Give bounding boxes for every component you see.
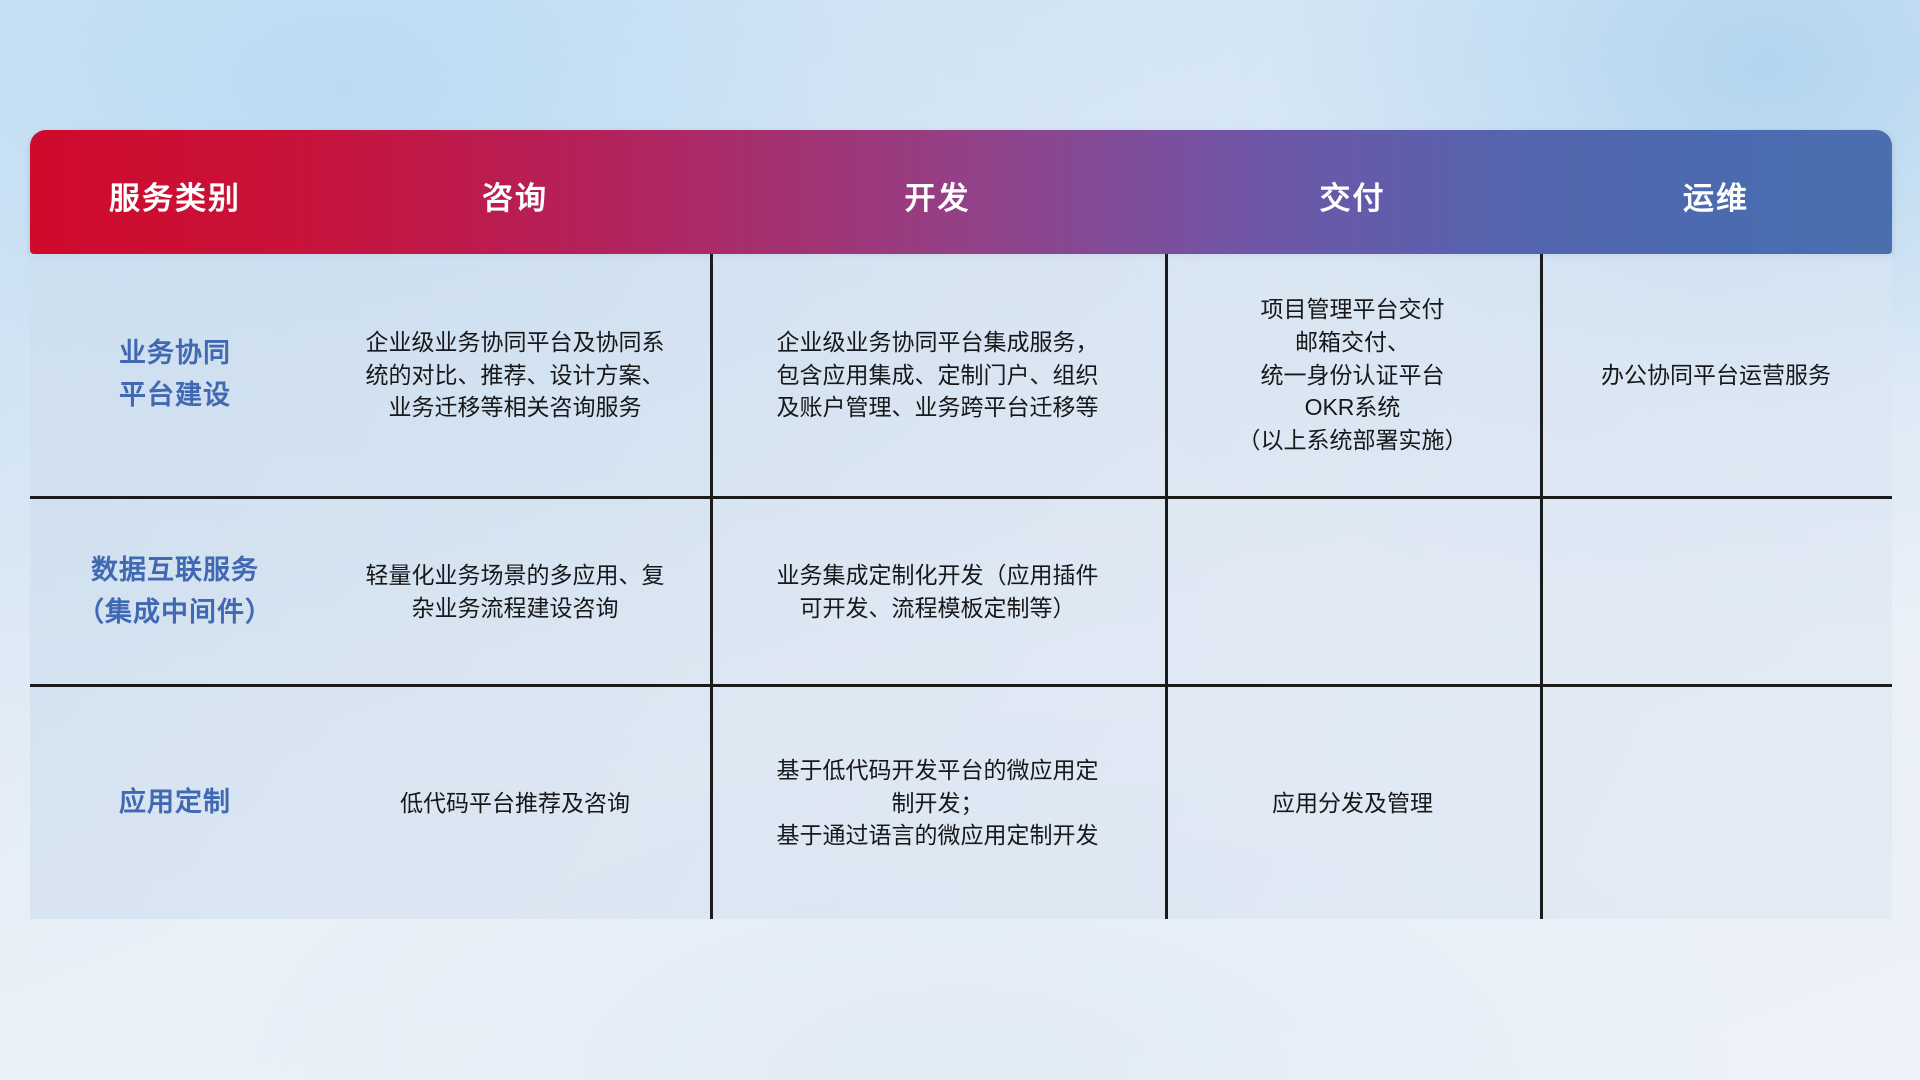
cell-consulting: 企业级业务协同平台及协同系 统的对比、推荐、设计方案、 业务迁移等相关咨询服务 [320, 254, 710, 496]
row-category-label: 应用定制 [30, 687, 320, 919]
column-header-operations: 运维 [1540, 130, 1892, 254]
table-header-row: 服务类别 咨询 开发 交付 运维 [30, 130, 1892, 254]
cell-delivery: 应用分发及管理 [1165, 687, 1540, 919]
row-category-label: 数据互联服务 （集成中间件） [30, 499, 320, 684]
cell-operations [1540, 687, 1892, 919]
column-header-consulting: 咨询 [320, 130, 710, 254]
slide-canvas: 服务类别 咨询 开发 交付 运维 业务协同 平台建设 企业级业务协同平台及协同系… [0, 0, 1920, 1080]
column-header-category: 服务类别 [30, 130, 320, 254]
cell-development: 业务集成定制化开发（应用插件 可开发、流程模板定制等） [710, 499, 1165, 684]
cell-delivery [1165, 499, 1540, 684]
cell-development: 基于低代码开发平台的微应用定 制开发； 基于通过语言的微应用定制开发 [710, 687, 1165, 919]
table-row: 业务协同 平台建设 企业级业务协同平台及协同系 统的对比、推荐、设计方案、 业务… [30, 254, 1892, 496]
cell-development: 企业级业务协同平台集成服务， 包含应用集成、定制门户、组织 及账户管理、业务跨平… [710, 254, 1165, 496]
cell-consulting: 低代码平台推荐及咨询 [320, 687, 710, 919]
service-matrix-table: 服务类别 咨询 开发 交付 运维 业务协同 平台建设 企业级业务协同平台及协同系… [30, 130, 1892, 919]
cell-consulting: 轻量化业务场景的多应用、复 杂业务流程建设咨询 [320, 499, 710, 684]
row-category-label: 业务协同 平台建设 [30, 254, 320, 496]
table-body: 业务协同 平台建设 企业级业务协同平台及协同系 统的对比、推荐、设计方案、 业务… [30, 254, 1892, 919]
table-row: 数据互联服务 （集成中间件） 轻量化业务场景的多应用、复 杂业务流程建设咨询 业… [30, 496, 1892, 684]
cell-operations [1540, 499, 1892, 684]
column-header-delivery: 交付 [1165, 130, 1540, 254]
cell-delivery: 项目管理平台交付 邮箱交付、 统一身份认证平台 OKR系统 （以上系统部署实施） [1165, 254, 1540, 496]
table-row: 应用定制 低代码平台推荐及咨询 基于低代码开发平台的微应用定 制开发； 基于通过… [30, 684, 1892, 919]
column-header-development: 开发 [710, 130, 1165, 254]
cell-operations: 办公协同平台运营服务 [1540, 254, 1892, 496]
